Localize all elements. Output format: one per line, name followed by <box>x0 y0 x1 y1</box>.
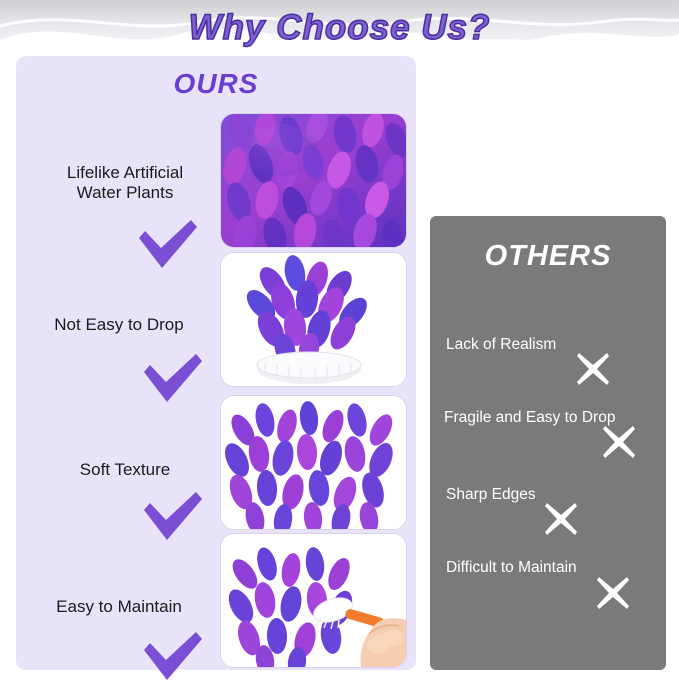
x-icon <box>576 352 610 386</box>
ours-item-label-1-line1: Lifelike Artificial <box>30 163 220 183</box>
ours-photo-3 <box>220 395 407 530</box>
check-icon <box>140 352 204 406</box>
ours-item-label-4-line1: Easy to Maintain <box>24 597 214 617</box>
ours-photo-2 <box>220 252 407 387</box>
x-icon <box>602 425 636 459</box>
ours-item-label-2: Not Easy to Drop <box>24 315 214 335</box>
ours-item-label-4: Easy to Maintain <box>24 597 214 617</box>
others-heading: OTHERS <box>430 240 666 273</box>
ours-photo-1 <box>220 113 407 248</box>
ours-item-label-1-line2: Water Plants <box>30 183 220 203</box>
others-item-label-3: Sharp Edges <box>446 486 536 504</box>
ours-item-label-3: Soft Texture <box>30 460 220 480</box>
others-item-label-2: Fragile and Easy to Drop <box>444 409 615 427</box>
others-item-label-1: Lack of Realism <box>446 336 556 354</box>
page-title: Why Choose Us? <box>0 8 679 48</box>
ours-item-label-2-line1: Not Easy to Drop <box>24 315 214 335</box>
check-icon <box>135 218 199 272</box>
ours-item-label-1: Lifelike Artificial Water Plants <box>30 163 220 203</box>
check-icon <box>140 490 204 544</box>
ours-item-label-3-line1: Soft Texture <box>30 460 220 480</box>
ours-heading: OURS <box>16 68 416 100</box>
others-item-label-4: Difficult to Maintain <box>446 559 577 577</box>
x-icon <box>544 502 578 536</box>
check-icon <box>140 630 204 684</box>
x-icon <box>596 576 630 610</box>
ours-photo-4 <box>220 533 407 668</box>
